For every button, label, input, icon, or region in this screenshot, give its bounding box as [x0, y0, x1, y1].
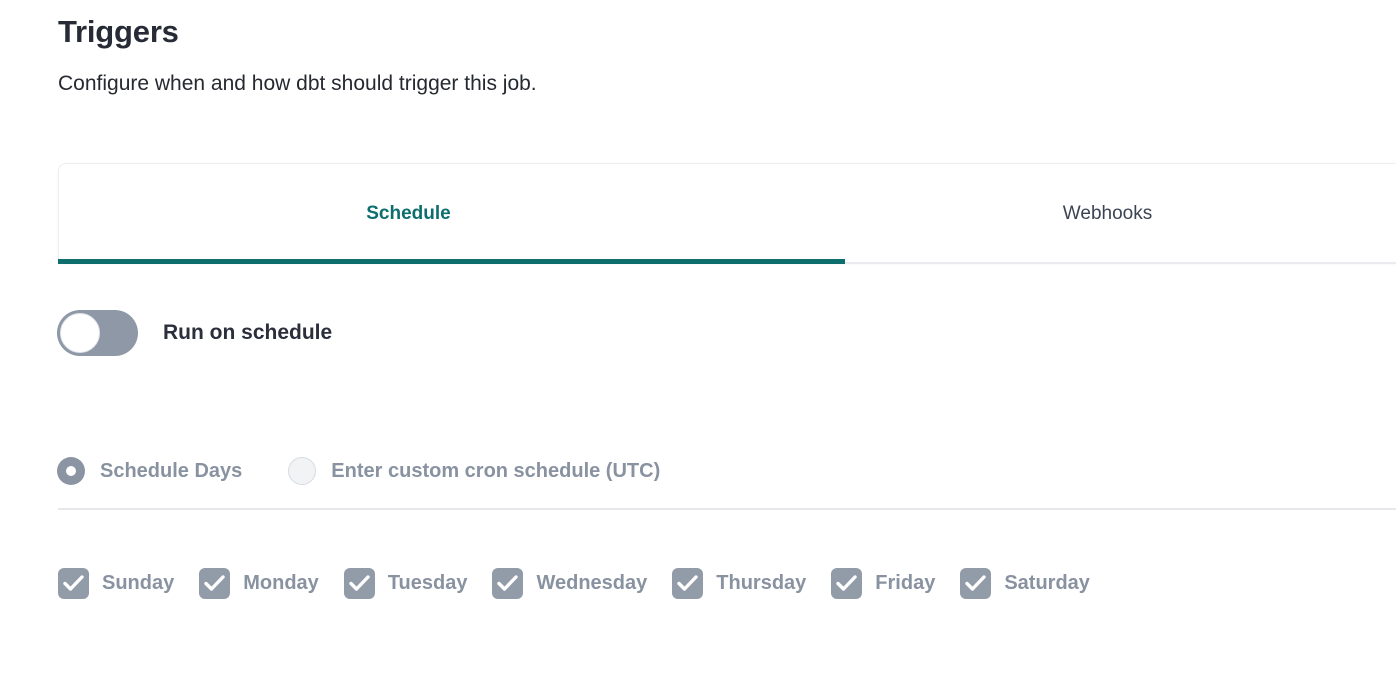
radio-unselected-icon[interactable]	[288, 457, 316, 485]
day-item-friday[interactable]: Friday	[831, 568, 935, 599]
page-title: Triggers	[58, 12, 537, 52]
radio-option-schedule-days[interactable]: Schedule Days	[57, 457, 242, 485]
check-icon	[965, 574, 986, 593]
radio-option-custom-cron[interactable]: Enter custom cron schedule (UTC)	[288, 457, 660, 485]
checkbox-tuesday[interactable]	[344, 568, 375, 599]
radio-label-custom-cron: Enter custom cron schedule (UTC)	[331, 460, 660, 483]
tab-schedule[interactable]: Schedule	[59, 164, 758, 263]
day-label-sunday: Sunday	[102, 572, 174, 595]
tab-bar: Schedule Webhooks	[58, 163, 1396, 263]
checkbox-friday[interactable]	[831, 568, 862, 599]
day-item-thursday[interactable]: Thursday	[672, 568, 806, 599]
check-icon	[836, 574, 857, 593]
day-item-sunday[interactable]: Sunday	[58, 568, 174, 599]
check-icon	[349, 574, 370, 593]
schedule-mode-radio-group: Schedule Days Enter custom cron schedule…	[57, 457, 660, 485]
tab-active-indicator	[58, 259, 845, 264]
day-item-monday[interactable]: Monday	[199, 568, 319, 599]
checkbox-saturday[interactable]	[960, 568, 991, 599]
day-label-saturday: Saturday	[1004, 572, 1090, 595]
radio-label-schedule-days: Schedule Days	[100, 460, 242, 483]
run-on-schedule-toggle[interactable]	[57, 310, 138, 356]
radio-selected-icon[interactable]	[57, 457, 85, 485]
checkbox-sunday[interactable]	[58, 568, 89, 599]
day-label-wednesday: Wednesday	[536, 572, 647, 595]
checkbox-thursday[interactable]	[672, 568, 703, 599]
day-label-friday: Friday	[875, 572, 935, 595]
page-subtitle: Configure when and how dbt should trigge…	[58, 69, 537, 99]
day-label-thursday: Thursday	[716, 572, 806, 595]
day-item-wednesday[interactable]: Wednesday	[492, 568, 647, 599]
day-label-tuesday: Tuesday	[388, 572, 468, 595]
checkbox-wednesday[interactable]	[492, 568, 523, 599]
day-item-tuesday[interactable]: Tuesday	[344, 568, 468, 599]
day-label-monday: Monday	[243, 572, 319, 595]
toggle-knob-icon	[60, 313, 100, 353]
section-divider	[58, 508, 1396, 510]
run-on-schedule-label: Run on schedule	[163, 321, 332, 345]
check-icon	[497, 574, 518, 593]
check-icon	[677, 574, 698, 593]
check-icon	[204, 574, 225, 593]
run-on-schedule-row: Run on schedule	[57, 310, 332, 356]
check-icon	[63, 574, 84, 593]
day-item-saturday[interactable]: Saturday	[960, 568, 1090, 599]
tab-webhooks[interactable]: Webhooks	[758, 164, 1396, 263]
checkbox-monday[interactable]	[199, 568, 230, 599]
schedule-days-checkbox-group: Sunday Monday Tuesday	[58, 568, 1090, 599]
triggers-settings-page: Triggers Configure when and how dbt shou…	[0, 0, 1396, 680]
header-block: Triggers Configure when and how dbt shou…	[58, 12, 537, 99]
